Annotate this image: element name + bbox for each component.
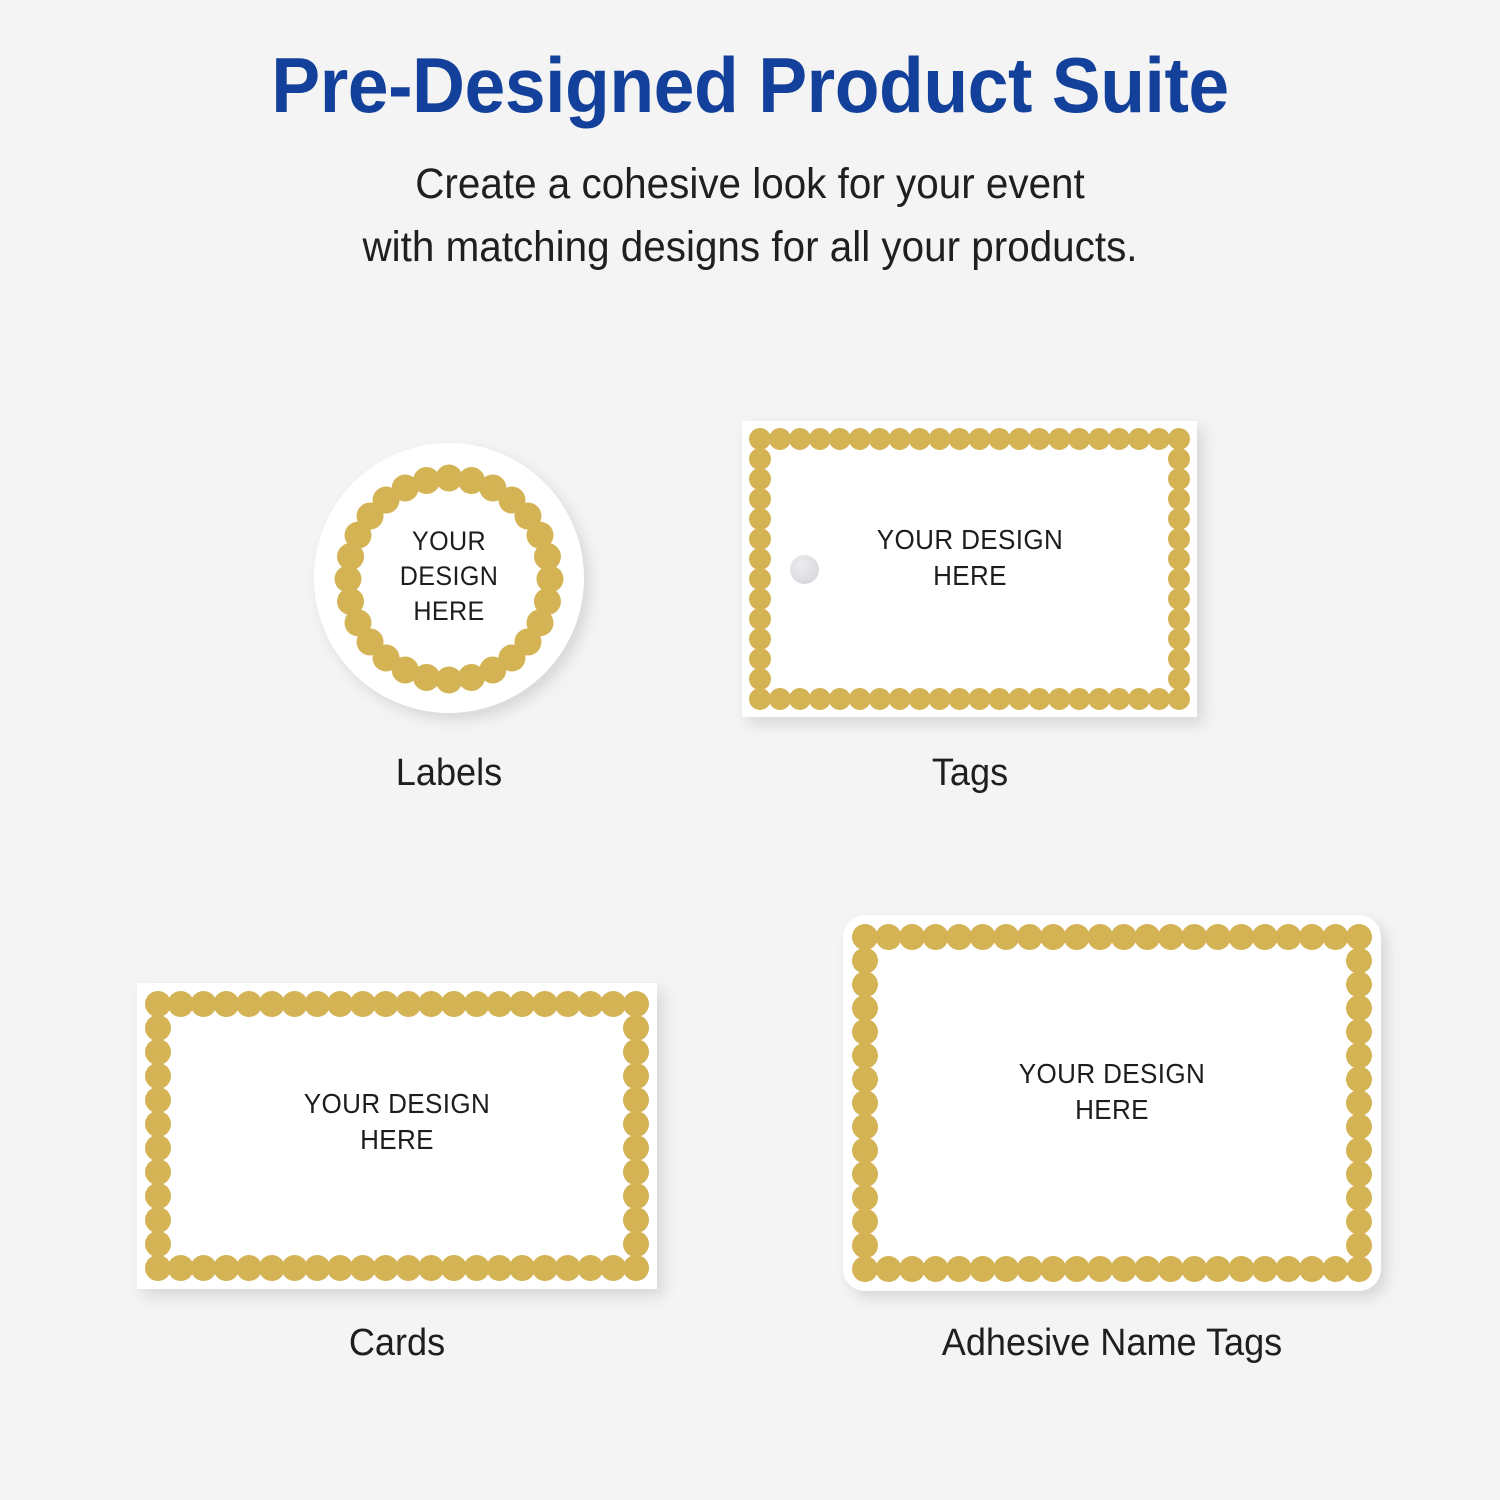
product-tags[interactable]: YOUR DESIGN HERE bbox=[735, 414, 1205, 724]
design-line-2: DESIGN bbox=[316, 559, 582, 594]
design-line-3: HERE bbox=[316, 594, 582, 629]
design-line-1: YOUR DESIGN bbox=[149, 1086, 646, 1122]
product-suite-page: Pre-Designed Product Suite Create a cohe… bbox=[0, 0, 1500, 1500]
design-line-1: YOUR DESIGN bbox=[855, 1056, 1368, 1092]
nametag-design-placeholder: YOUR DESIGN HERE bbox=[855, 1056, 1368, 1129]
caption-cards: Cards bbox=[143, 1322, 650, 1365]
product-cards[interactable]: YOUR DESIGN HERE bbox=[130, 976, 664, 1296]
product-adhesive-name-tags[interactable]: YOUR DESIGN HERE bbox=[836, 908, 1388, 1298]
design-line-2: HERE bbox=[855, 1092, 1368, 1128]
label-design-placeholder: YOUR DESIGN HERE bbox=[316, 524, 582, 629]
design-line-1: YOUR DESIGN bbox=[751, 522, 1188, 558]
card-design-placeholder: YOUR DESIGN HERE bbox=[149, 1086, 646, 1159]
product-grid: YOUR DESIGN HERE Labels YOUR DESIGN HERE… bbox=[0, 0, 1500, 1500]
tag-design-placeholder: YOUR DESIGN HERE bbox=[751, 522, 1188, 595]
caption-tags: Tags bbox=[747, 752, 1194, 795]
design-line-1: YOUR bbox=[316, 524, 582, 559]
caption-adhesive-name-tags: Adhesive Name Tags bbox=[850, 1322, 1374, 1365]
design-line-2: HERE bbox=[751, 558, 1188, 594]
caption-labels: Labels bbox=[313, 752, 585, 795]
product-labels[interactable]: YOUR DESIGN HERE bbox=[306, 436, 592, 722]
design-line-2: HERE bbox=[149, 1122, 646, 1158]
